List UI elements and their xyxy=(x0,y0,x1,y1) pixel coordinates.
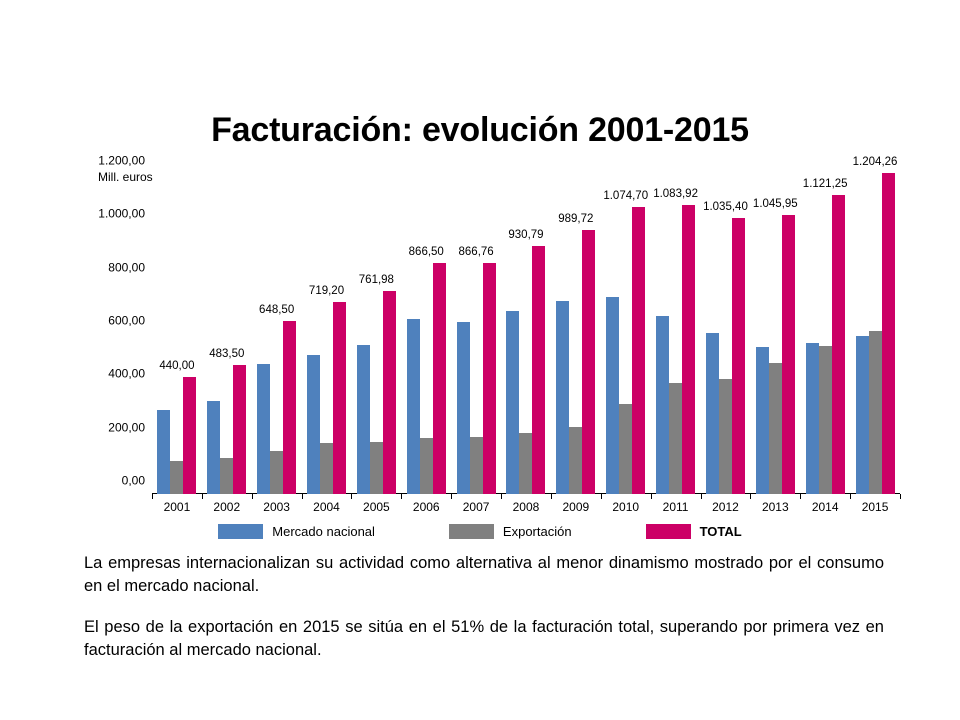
bar-total[interactable] xyxy=(532,246,545,494)
bar-group: 719,202004 xyxy=(302,174,352,494)
legend-label: Exportación xyxy=(503,524,572,539)
bar-value-label: 440,00 xyxy=(159,360,194,373)
y-axis-tick-label: 1.200,00 xyxy=(98,155,145,168)
notes-block: La empresas internacionalizan su activid… xyxy=(84,552,884,662)
note-paragraph: El peso de la exportación en 2015 se sit… xyxy=(84,616,884,662)
legend-swatch xyxy=(449,524,494,539)
bar-exportación[interactable] xyxy=(719,379,732,494)
bar-group-bars xyxy=(701,174,751,494)
bar-exportación[interactable] xyxy=(420,438,433,494)
bar-total[interactable] xyxy=(433,263,446,494)
bar-total[interactable] xyxy=(682,205,695,494)
slide-canvas: Facturación: evolución 2001-2015 Mill. e… xyxy=(0,0,960,720)
x-axis-tick-label: 2010 xyxy=(612,500,639,514)
bar-group: 866,502006 xyxy=(401,174,451,494)
bar-mercado-nacional[interactable] xyxy=(506,311,519,494)
legend-label: Mercado nacional xyxy=(272,524,375,539)
bar-mercado-nacional[interactable] xyxy=(856,336,869,494)
x-axis-tick-label: 2014 xyxy=(812,500,839,514)
bar-mercado-nacional[interactable] xyxy=(407,319,420,494)
bar-value-label: 989,72 xyxy=(558,213,593,226)
x-axis-tick xyxy=(252,494,253,499)
x-axis-tick-label: 2006 xyxy=(413,500,440,514)
bar-mercado-nacional[interactable] xyxy=(756,347,769,494)
bar-group: 1.121,252014 xyxy=(800,174,850,494)
bar-value-label: 648,50 xyxy=(259,304,294,317)
bar-total[interactable] xyxy=(183,377,196,494)
bar-exportación[interactable] xyxy=(769,363,782,494)
legend-label: TOTAL xyxy=(700,524,742,539)
x-axis-tick xyxy=(651,494,652,499)
bar-group-bars xyxy=(202,174,252,494)
x-axis-tick xyxy=(701,494,702,499)
bar-value-label: 1.121,25 xyxy=(803,178,848,191)
bar-total[interactable] xyxy=(483,263,496,494)
x-axis-tick xyxy=(152,494,153,499)
bar-exportación[interactable] xyxy=(470,437,483,494)
bar-group-bars xyxy=(351,174,401,494)
bar-total[interactable] xyxy=(882,173,895,494)
note-paragraph: La empresas internacionalizan su activid… xyxy=(84,552,884,598)
bar-exportación[interactable] xyxy=(569,427,582,494)
bar-exportación[interactable] xyxy=(869,331,882,494)
bar-group-bars xyxy=(501,174,551,494)
y-axis-tick-label: 600,00 xyxy=(108,315,145,328)
bar-mercado-nacional[interactable] xyxy=(457,322,470,494)
bar-total[interactable] xyxy=(383,291,396,494)
legend-swatch xyxy=(646,524,691,539)
bar-total[interactable] xyxy=(233,365,246,494)
x-axis-tick-label: 2007 xyxy=(463,500,490,514)
bar-total[interactable] xyxy=(582,230,595,494)
bar-exportación[interactable] xyxy=(819,346,832,494)
bar-mercado-nacional[interactable] xyxy=(706,333,719,494)
y-axis-tick-label: 0,00 xyxy=(122,475,145,488)
x-axis-tick-label: 2008 xyxy=(513,500,540,514)
bar-group: 930,792008 xyxy=(501,174,551,494)
bar-exportación[interactable] xyxy=(170,461,183,494)
bar-group-bars xyxy=(601,174,651,494)
bar-value-label: 1.074,70 xyxy=(603,190,648,203)
bar-exportación[interactable] xyxy=(370,442,383,494)
bar-group: 1.074,702010 xyxy=(601,174,651,494)
bar-group: 866,762007 xyxy=(451,174,501,494)
bar-total[interactable] xyxy=(283,321,296,494)
bar-exportación[interactable] xyxy=(270,451,283,494)
bar-total[interactable] xyxy=(832,195,845,494)
chart-title: Facturación: evolución 2001-2015 xyxy=(0,110,960,150)
bar-mercado-nacional[interactable] xyxy=(556,301,569,494)
bar-value-label: 761,98 xyxy=(359,274,394,287)
x-axis-tick xyxy=(302,494,303,499)
x-axis-tick-label: 2009 xyxy=(562,500,589,514)
y-axis-tick-label: 800,00 xyxy=(108,261,145,274)
bar-group: 1.083,922011 xyxy=(651,174,701,494)
x-axis-tick-label: 2011 xyxy=(663,500,689,514)
x-axis-tick xyxy=(750,494,751,499)
bar-group-bars xyxy=(401,174,451,494)
bar-mercado-nacional[interactable] xyxy=(806,343,819,494)
y-axis-tick-label: 1.000,00 xyxy=(98,208,145,221)
x-axis-tick xyxy=(401,494,402,499)
x-axis-tick-label: 2004 xyxy=(313,500,340,514)
bar-total[interactable] xyxy=(732,218,745,494)
y-axis-tick-label: 400,00 xyxy=(108,368,145,381)
x-axis-tick xyxy=(501,494,502,499)
bar-exportación[interactable] xyxy=(220,458,233,494)
bar-value-label: 483,50 xyxy=(209,348,244,361)
bar-exportación[interactable] xyxy=(669,383,682,494)
bar-group-bars xyxy=(302,174,352,494)
bar-mercado-nacional[interactable] xyxy=(207,401,220,494)
x-axis-tick xyxy=(850,494,851,499)
bar-group: 989,722009 xyxy=(551,174,601,494)
x-axis-tick-label: 2013 xyxy=(762,500,789,514)
x-axis-tick-label: 2003 xyxy=(263,500,290,514)
legend-item[interactable]: TOTAL xyxy=(646,524,742,539)
x-axis-tick xyxy=(800,494,801,499)
bar-group: 1.204,262015 xyxy=(850,174,900,494)
bar-total[interactable] xyxy=(333,302,346,494)
x-axis-tick-label: 2012 xyxy=(712,500,739,514)
bar-group: 440,002001 xyxy=(152,174,202,494)
bar-group-bars xyxy=(152,174,202,494)
x-axis-tick-label: 2015 xyxy=(862,500,889,514)
bar-group-bars xyxy=(800,174,850,494)
bar-mercado-nacional[interactable] xyxy=(606,297,619,494)
bar-value-label: 1.204,26 xyxy=(853,156,898,169)
x-axis-tick xyxy=(451,494,452,499)
bar-value-label: 1.045,95 xyxy=(753,198,798,211)
legend-swatch xyxy=(218,524,263,539)
bar-value-label: 1.035,40 xyxy=(703,201,748,214)
x-axis-tick xyxy=(351,494,352,499)
x-axis-tick-label: 2002 xyxy=(213,500,240,514)
x-axis-tick xyxy=(900,494,901,499)
bar-value-label: 1.083,92 xyxy=(653,188,698,201)
bar-group: 483,502002 xyxy=(202,174,252,494)
chart-legend: Mercado nacionalExportaciónTOTAL xyxy=(0,524,960,539)
bar-value-label: 866,50 xyxy=(409,246,444,259)
y-axis-unit-label: Mill. euros xyxy=(98,170,153,184)
legend-item[interactable]: Exportación xyxy=(449,524,572,539)
bar-mercado-nacional[interactable] xyxy=(157,410,170,494)
bar-group-bars xyxy=(750,174,800,494)
bar-mercado-nacional[interactable] xyxy=(357,345,370,494)
bar-mercado-nacional[interactable] xyxy=(307,355,320,494)
bar-exportación[interactable] xyxy=(619,404,632,494)
bar-group: 761,982005 xyxy=(351,174,401,494)
x-axis-tick xyxy=(601,494,602,499)
bar-value-label: 866,76 xyxy=(459,246,494,259)
bar-total[interactable] xyxy=(632,207,645,494)
bar-group: 1.035,402012 xyxy=(701,174,751,494)
bar-group-bars xyxy=(651,174,701,494)
bar-group-bars xyxy=(252,174,302,494)
bar-exportación[interactable] xyxy=(519,433,532,494)
bar-value-label: 719,20 xyxy=(309,285,344,298)
bar-group: 1.045,952013 xyxy=(750,174,800,494)
bar-group-bars xyxy=(451,174,501,494)
bar-group-bars xyxy=(850,174,900,494)
legend-item[interactable]: Mercado nacional xyxy=(218,524,375,539)
x-axis-tick xyxy=(202,494,203,499)
bar-chart: Mill. euros 0,00200,00400,00600,00800,00… xyxy=(0,160,960,555)
bar-mercado-nacional[interactable] xyxy=(257,364,270,494)
x-axis-tick-label: 2001 xyxy=(164,500,191,514)
x-axis-tick xyxy=(551,494,552,499)
x-axis-tick-label: 2005 xyxy=(363,500,390,514)
plot-area: 0,00200,00400,00600,00800,001.000,001.20… xyxy=(152,174,900,494)
bar-total[interactable] xyxy=(782,215,795,494)
bar-mercado-nacional[interactable] xyxy=(656,316,669,494)
y-axis-tick-label: 200,00 xyxy=(108,421,145,434)
bar-exportación[interactable] xyxy=(320,443,333,494)
bar-group: 648,502003 xyxy=(252,174,302,494)
bar-value-label: 930,79 xyxy=(508,229,543,242)
